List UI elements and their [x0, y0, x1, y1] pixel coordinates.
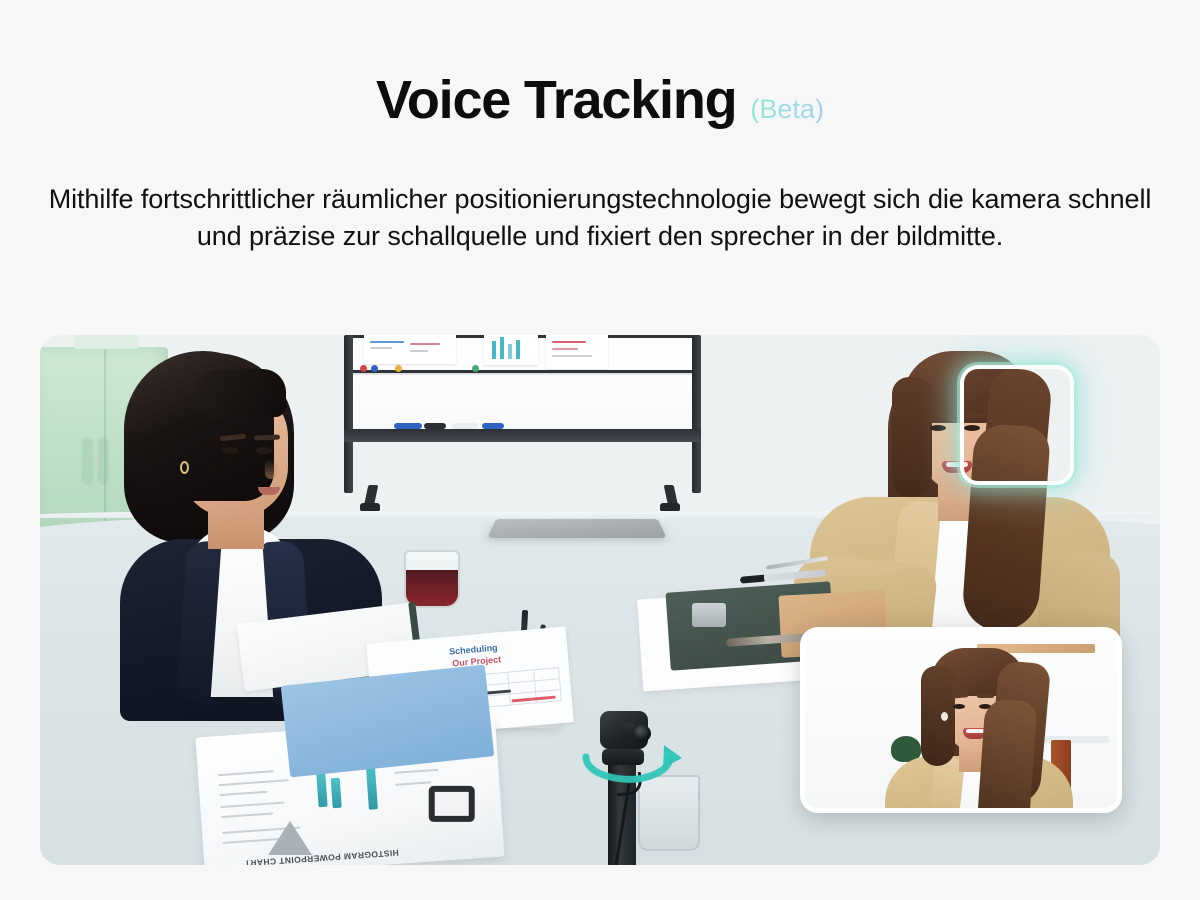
feature-photo-card: Scheduling Our Project	[40, 335, 1160, 865]
clipboard-clamp-right	[692, 603, 726, 627]
rotation-arrow-icon	[568, 735, 696, 783]
whiteboard-note	[546, 335, 608, 369]
speaker-preview-panel	[800, 627, 1122, 813]
earring	[180, 461, 189, 474]
page-root: Voice Tracking (Beta) Mithilfe fortschri…	[0, 0, 1200, 900]
header-section: Voice Tracking (Beta) Mithilfe fortschri…	[0, 0, 1200, 256]
voice-tracking-camera	[572, 705, 692, 865]
whiteboard-magnet	[472, 365, 479, 372]
drinking-glass-with-beverage	[404, 550, 460, 608]
cabinet-top-box	[74, 335, 138, 349]
cabinet-handle-left	[84, 439, 91, 483]
page-subtitle: Mithilfe fortschrittlicher räumlicher po…	[45, 181, 1155, 257]
whiteboard-note	[484, 335, 538, 365]
page-title-row: Voice Tracking (Beta)	[0, 72, 1200, 129]
clipboard-clamp	[429, 786, 475, 822]
page-title: Voice Tracking	[376, 72, 736, 129]
closed-laptop	[487, 519, 666, 538]
triangle-stand	[268, 821, 312, 855]
preview-speaker	[897, 648, 1057, 813]
beta-badge: (Beta)	[750, 96, 824, 123]
